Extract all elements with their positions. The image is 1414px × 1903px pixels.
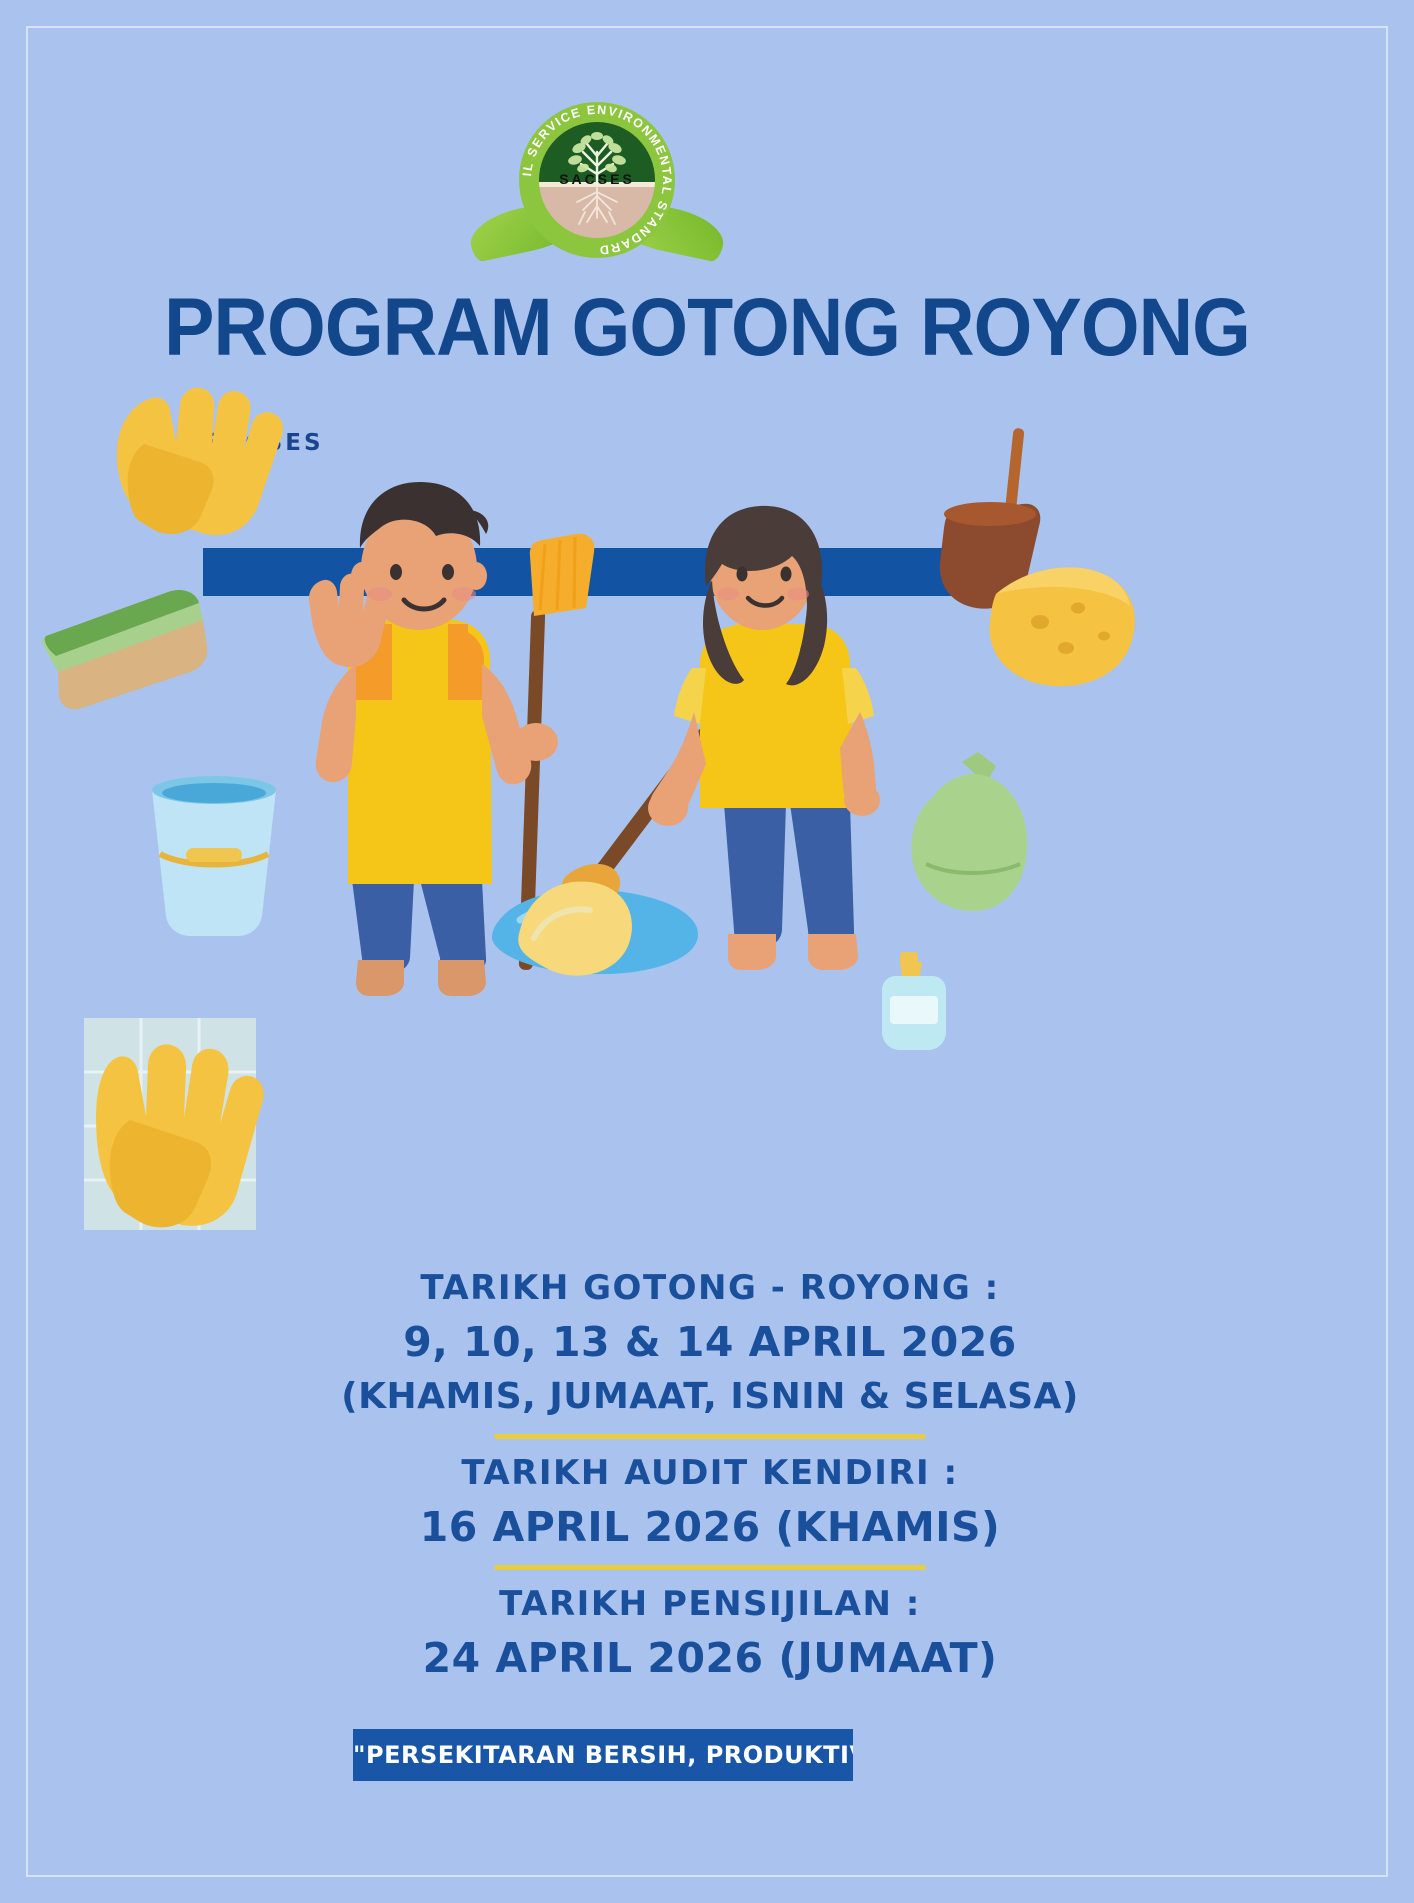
pensijilan-value: 24 APRIL 2026 (JUMAAT) <box>300 1630 1120 1686</box>
blue-bucket-icon <box>152 776 276 936</box>
gotong-royong-label: TARIKH GOTONG - ROYONG : <box>300 1262 1120 1314</box>
audit-value: 16 APRIL 2026 (KHAMIS) <box>300 1499 1120 1555</box>
yellow-glove-tile-wall-icon <box>84 1018 264 1230</box>
dates-block: TARIKH GOTONG - ROYONG : 9, 10, 13 & 14 … <box>300 1262 1120 1686</box>
sacses-logo: SACSES SARAWAK CIVIL SERVICE ENVIRONMENT… <box>487 100 707 275</box>
green-sponge-icon <box>43 590 208 709</box>
logo-circle-badge: SACSES SARAWAK CIVIL SERVICE ENVIRONMENT… <box>519 102 675 258</box>
green-garbage-bag-icon <box>911 752 1027 911</box>
soap-dispenser-icon <box>882 952 946 1050</box>
page-subtitle: SACSES <box>205 430 324 456</box>
divider-line-1 <box>494 1434 926 1439</box>
header-blue-bar <box>203 548 973 596</box>
pensijilan-label: TARIKH PENSIJILAN : <box>300 1578 1120 1630</box>
logo-center-text: SACSES <box>519 171 675 187</box>
gotong-royong-days: (KHAMIS, JUMAAT, ISNIN & SELASA) <box>300 1370 1120 1424</box>
tagline-banner: "PERSEKITARAN BERSIH, PRODUKTIVITI MENIN… <box>353 1729 853 1781</box>
water-puddle-icon <box>492 889 698 974</box>
yellow-glove-top-left-icon <box>117 388 283 536</box>
audit-label: TARIKH AUDIT KENDIRI : <box>300 1447 1120 1499</box>
orange-sponge-icon <box>989 567 1134 686</box>
poster-root: SACSES SARAWAK CIVIL SERVICE ENVIRONMENT… <box>0 0 1414 1903</box>
poster-content: SACSES SARAWAK CIVIL SERVICE ENVIRONMENT… <box>0 0 1414 1903</box>
page-title: PROGRAM GOTONG ROYONG <box>57 282 1358 374</box>
gotong-royong-value: 9, 10, 13 & 14 APRIL 2026 <box>300 1314 1120 1370</box>
divider-line-2 <box>494 1565 926 1570</box>
